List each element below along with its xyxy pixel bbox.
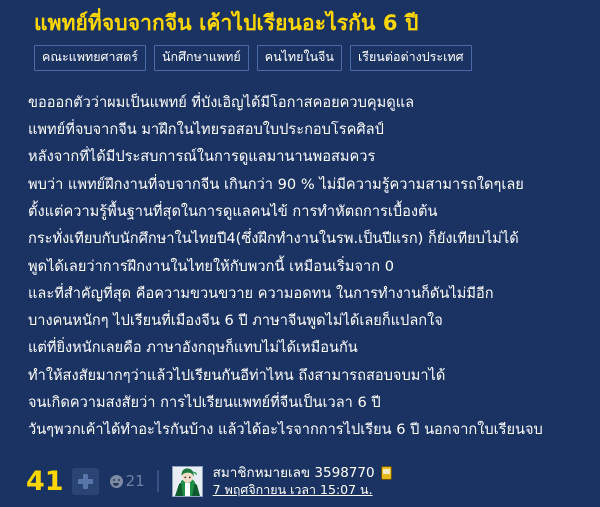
post-body-line: วันๆพวกเค้าได้ทำอะไรกันบ้าง แล้วได้อะไรจ… [28, 416, 600, 443]
tag-item-2[interactable]: คนไทยในจีน [257, 45, 342, 71]
plus-icon[interactable] [72, 468, 99, 495]
mobile-phone-icon [381, 466, 392, 480]
post-body-line: ตั้งแต่ความรู้พื้นฐานที่สุดในการดูแลคนไข… [28, 198, 600, 225]
post-body: ขอออกตัวว่าผมเป็นแพทย์ ที่บังเอิญได้มีโอ… [0, 71, 600, 444]
emoticon-count: 21 [126, 474, 145, 489]
tag-item-0[interactable]: คณะแพทยศาสตร์ [34, 45, 146, 71]
post-timestamp[interactable]: 7 พฤศจิกายน เวลา 15:07 น. [213, 483, 392, 497]
post-body-line: บางคนหนักๆ ไปเรียนที่เมืองจีน 6 ปี ภาษาจ… [28, 307, 600, 334]
post-footer: 41 21 สมาชิกหมายเลข 3598770 [0, 455, 600, 507]
member-id[interactable]: สมาชิกหมายเลข 3598770 [213, 466, 375, 481]
post-meta-author-row: สมาชิกหมายเลข 3598770 [213, 466, 392, 481]
post-body-line: จนเกิดความสงสัยว่า การไปเรียนแพทย์ที่จีน… [28, 389, 600, 416]
footer-divider [157, 470, 159, 492]
tag-item-1[interactable]: นักศึกษาแพทย์ [154, 45, 249, 71]
post-meta: สมาชิกหมายเลข 3598770 7 พฤศจิกายน เวลา 1… [213, 466, 392, 497]
page-title: แพทย์ที่จบจากจีน เค้าไปเรียนอะไรกัน 6 ปี [0, 0, 600, 36]
avatar[interactable] [172, 466, 203, 497]
post-body-line: ขอออกตัวว่าผมเป็นแพทย์ ที่บังเอิญได้มีโอ… [28, 89, 600, 116]
post-body-line: และที่สำคัญที่สุด คือความขวนขวาย ความอดท… [28, 280, 600, 307]
post-body-line: พบว่า แพทย์ฝึกงานที่จบจากจีน เกินกว่า 90… [28, 171, 600, 198]
post-body-line: แต่ที่ยิ่งหนักเลยคือ ภาษาอังกฤษก็แทบไม่ไ… [28, 334, 600, 361]
emoticon-face-icon[interactable] [110, 475, 123, 488]
post-body-line: ทำให้สงสัยมากๆว่าแล้วไปเรียนกันอีท่าไหน … [28, 362, 600, 389]
tag-item-3[interactable]: เรียนต่อต่างประเทศ [350, 45, 472, 71]
vote-count: 41 [26, 468, 64, 495]
post-body-line: กระทั่งเทียบกับนักศึกษาในไทยปี4(ซึ่งฝึกท… [28, 225, 600, 252]
emoticon-group[interactable]: 21 [110, 474, 145, 489]
tag-list: คณะแพทยศาสตร์ นักศึกษาแพทย์ คนไทยในจีน เ… [0, 36, 600, 71]
post-body-line: พูดได้เลยว่าการฝึกงานในไทยให้กับพวกนี้ เ… [28, 253, 600, 280]
post-body-line: แพทย์ที่จบจากจีน มาฝึกในไทยรอสอบใบประกอบ… [28, 116, 600, 143]
post-body-line: หลังจากที่ได้มีประสบการณ์ในการดูแลมานานพ… [28, 143, 600, 170]
forum-post: แพทย์ที่จบจากจีน เค้าไปเรียนอะไรกัน 6 ปี… [0, 0, 600, 507]
